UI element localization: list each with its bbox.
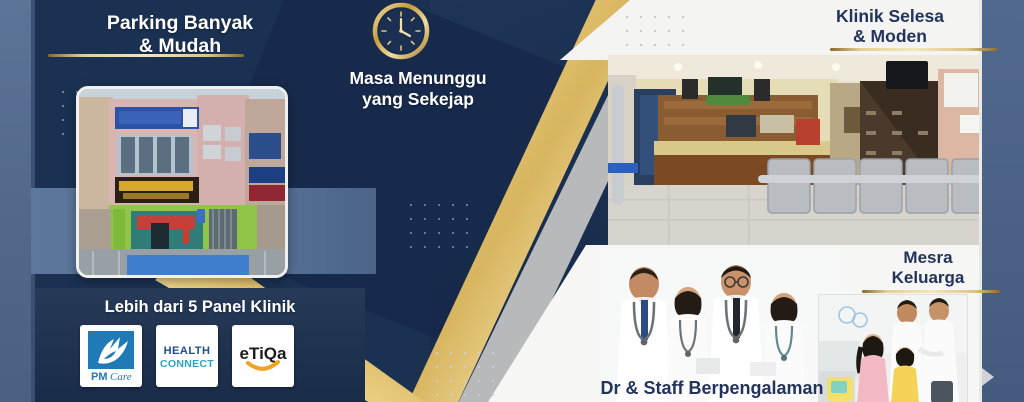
feature-title-doctors: Dr & Staff Berpengalaman: [584, 378, 840, 399]
health-connect-logo[interactable]: HEALTH CONNECT: [156, 325, 218, 387]
panel-heading: Lebih dari 5 Panel Klinik: [40, 298, 360, 317]
svg-text:PM: PM: [91, 371, 108, 383]
clinic-title-line1: Klinik Selesa: [780, 6, 1000, 26]
next-arrow-icon[interactable]: [982, 368, 994, 386]
svg-text:eTiQa: eTiQa: [240, 344, 287, 363]
parking-title-line1: Parking Banyak: [60, 12, 300, 35]
family-with-doctors-photo: [818, 294, 968, 402]
clinic-promo-banner: Parking Banyak & Mudah Masa Menunggu yan…: [0, 0, 1024, 402]
svg-text:CONNECT: CONNECT: [160, 358, 214, 370]
family-gold-rule: [862, 290, 1000, 293]
waiting-title-line1: Masa Menunggu: [330, 68, 506, 89]
etiqa-logo[interactable]: eTiQa: [232, 325, 294, 387]
clinic-title-line2: & Moden: [780, 26, 1000, 46]
parking-gold-rule: [48, 54, 244, 57]
svg-text:HEALTH: HEALTH: [164, 345, 211, 357]
panel-logo-row: PM Care HEALTH CONNECT eTiQa: [80, 325, 294, 387]
feature-title-parking: Parking Banyak & Mudah: [60, 12, 300, 58]
clinic-reception-photo: [608, 55, 1000, 245]
pmcare-logo[interactable]: PM Care: [80, 325, 142, 387]
dot-grid-bottom-center: [428, 344, 504, 400]
doctors-title-line1: Dr & Staff Berpengalaman: [584, 378, 840, 399]
left-accent-strip: [0, 0, 31, 402]
svg-text:Care: Care: [110, 371, 132, 383]
feature-title-family: Mesra Keluarga: [848, 248, 1008, 287]
dot-grid-center-navy: [402, 196, 472, 248]
family-title-line1: Mesra: [848, 248, 1008, 268]
shophouse-exterior-photo: [76, 86, 288, 278]
clinic-gold-rule: [830, 48, 998, 51]
waiting-title-line2: yang Sekejap: [330, 89, 506, 110]
feature-title-waiting-time: Masa Menunggu yang Sekejap: [330, 68, 506, 109]
family-title-line2: Keluarga: [848, 268, 1008, 288]
feature-title-clinic: Klinik Selesa & Moden: [780, 6, 1000, 47]
right-accent-bar: [982, 0, 1024, 402]
clock-icon: [372, 2, 430, 60]
